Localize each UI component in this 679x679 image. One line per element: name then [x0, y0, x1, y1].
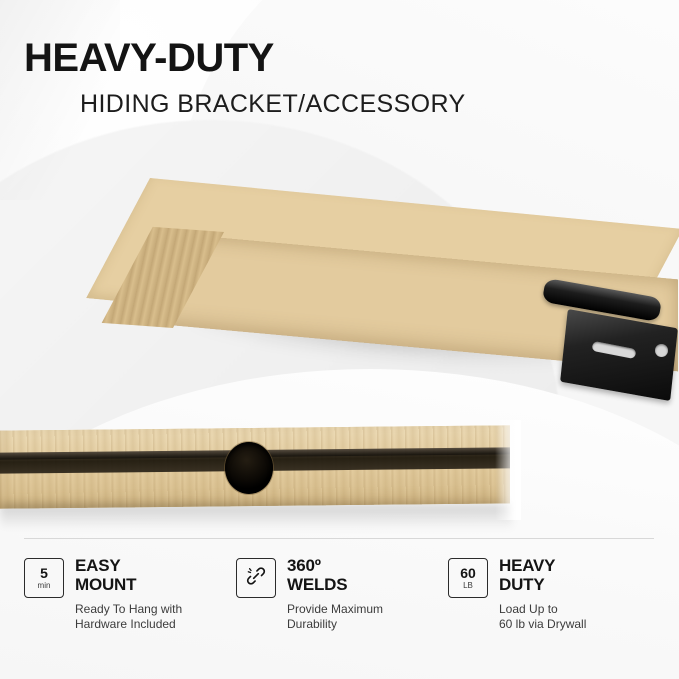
badge-number: 60 [460, 566, 476, 580]
badge-weld-icon [236, 558, 276, 598]
feature-desc-line1: Provide Maximum [287, 602, 383, 617]
page-title: HEAVY-DUTY [24, 38, 664, 78]
feature-desc-line2: Hardware Included [75, 617, 182, 632]
feature-text: HEAVY DUTY Load Up to 60 lb via Drywall [499, 556, 586, 633]
section-divider [24, 538, 654, 539]
rail-bracket-hole [225, 442, 273, 494]
rail-right-fade [495, 420, 521, 520]
feature-title-line2: MOUNT [75, 575, 182, 594]
feature-text: EASY MOUNT Ready To Hang with Hardware I… [75, 556, 182, 633]
feature-text: 360º WELDS Provide Maximum Durability [287, 556, 383, 633]
bracket-screw-hole [655, 344, 668, 357]
badge-unit: LB [463, 582, 473, 590]
feature-desc-line2: Durability [287, 617, 383, 632]
feature-360-welds: 360º WELDS Provide Maximum Durability [236, 556, 448, 633]
weld-link-icon [245, 565, 267, 592]
product-infographic: HEAVY-DUTY HIDING BRACKET/ACCESSORY 5 mi… [0, 0, 679, 679]
rail-drop-shadow [0, 504, 512, 530]
feature-title-line2: WELDS [287, 575, 383, 594]
headline-block: HEAVY-DUTY HIDING BRACKET/ACCESSORY [24, 38, 664, 117]
page-subtitle: HIDING BRACKET/ACCESSORY [80, 92, 664, 117]
feature-title-line2: DUTY [499, 575, 586, 594]
feature-heavy-duty: 60 LB HEAVY DUTY Load Up to 60 lb via Dr… [448, 556, 660, 633]
badge-5-min: 5 min [24, 558, 64, 598]
feature-desc-line1: Ready To Hang with [75, 602, 182, 617]
feature-easy-mount: 5 min EASY MOUNT Ready To Hang with Hard… [24, 556, 236, 633]
feature-desc-line1: Load Up to [499, 602, 586, 617]
feature-title-line1: 360º [287, 556, 383, 575]
badge-60-lb: 60 LB [448, 558, 488, 598]
feature-title-line1: HEAVY [499, 556, 586, 575]
feature-row: 5 min EASY MOUNT Ready To Hang with Hard… [24, 556, 660, 633]
feature-desc-line2: 60 lb via Drywall [499, 617, 586, 632]
badge-unit: min [38, 582, 51, 590]
feature-title-line1: EASY [75, 556, 182, 575]
badge-number: 5 [40, 566, 48, 580]
